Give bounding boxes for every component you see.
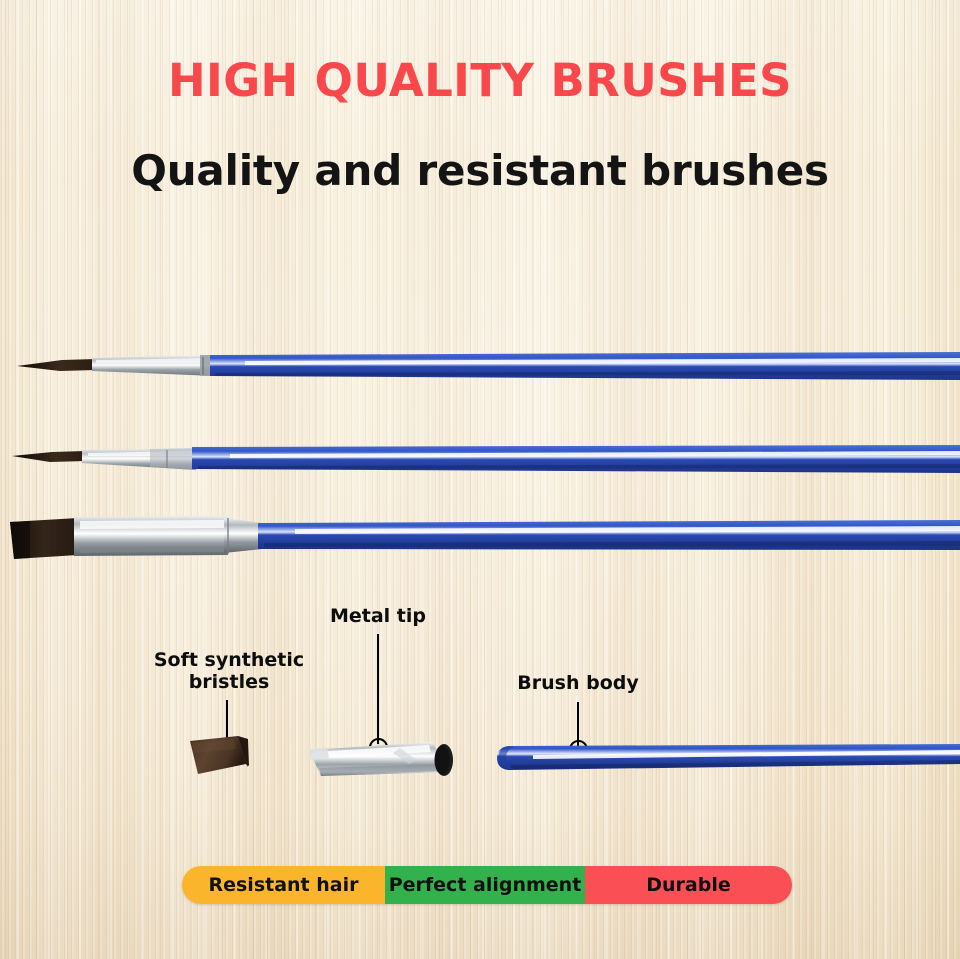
- feature-segment-label: Durable: [646, 874, 731, 896]
- specimen-ferrule-segment: [305, 738, 465, 784]
- specimen-bristle-segment: [186, 733, 258, 783]
- brush-fine-round: [0, 338, 960, 398]
- product-poster: HIGH QUALITY BRUSHES Quality and resista…: [0, 0, 960, 959]
- page-title: HIGH QUALITY BRUSHES: [0, 57, 960, 104]
- callout-label-brush-body: Brush body: [488, 673, 668, 695]
- brush-fine-liner: [0, 432, 960, 490]
- feature-segment-label: Resistant hair: [208, 874, 358, 896]
- brush-flat: [0, 505, 960, 567]
- callout-label-metal-tip: Metal tip: [288, 606, 468, 628]
- feature-segment-perfect-alignment[interactable]: Perfect alignment: [385, 866, 585, 904]
- feature-segment-label: Perfect alignment: [389, 874, 582, 896]
- leader-line-metal-tip: [377, 634, 379, 744]
- feature-segment-resistant-hair[interactable]: Resistant hair: [182, 866, 385, 904]
- specimen-handle-segment: [495, 738, 960, 782]
- feature-segment-durable[interactable]: Durable: [585, 866, 792, 904]
- page-subtitle: Quality and resistant brushes: [0, 148, 960, 194]
- feature-bar: Resistant hair Perfect alignment Durable: [182, 866, 792, 904]
- callout-label-bristles: Soft synthetic bristles: [139, 650, 319, 694]
